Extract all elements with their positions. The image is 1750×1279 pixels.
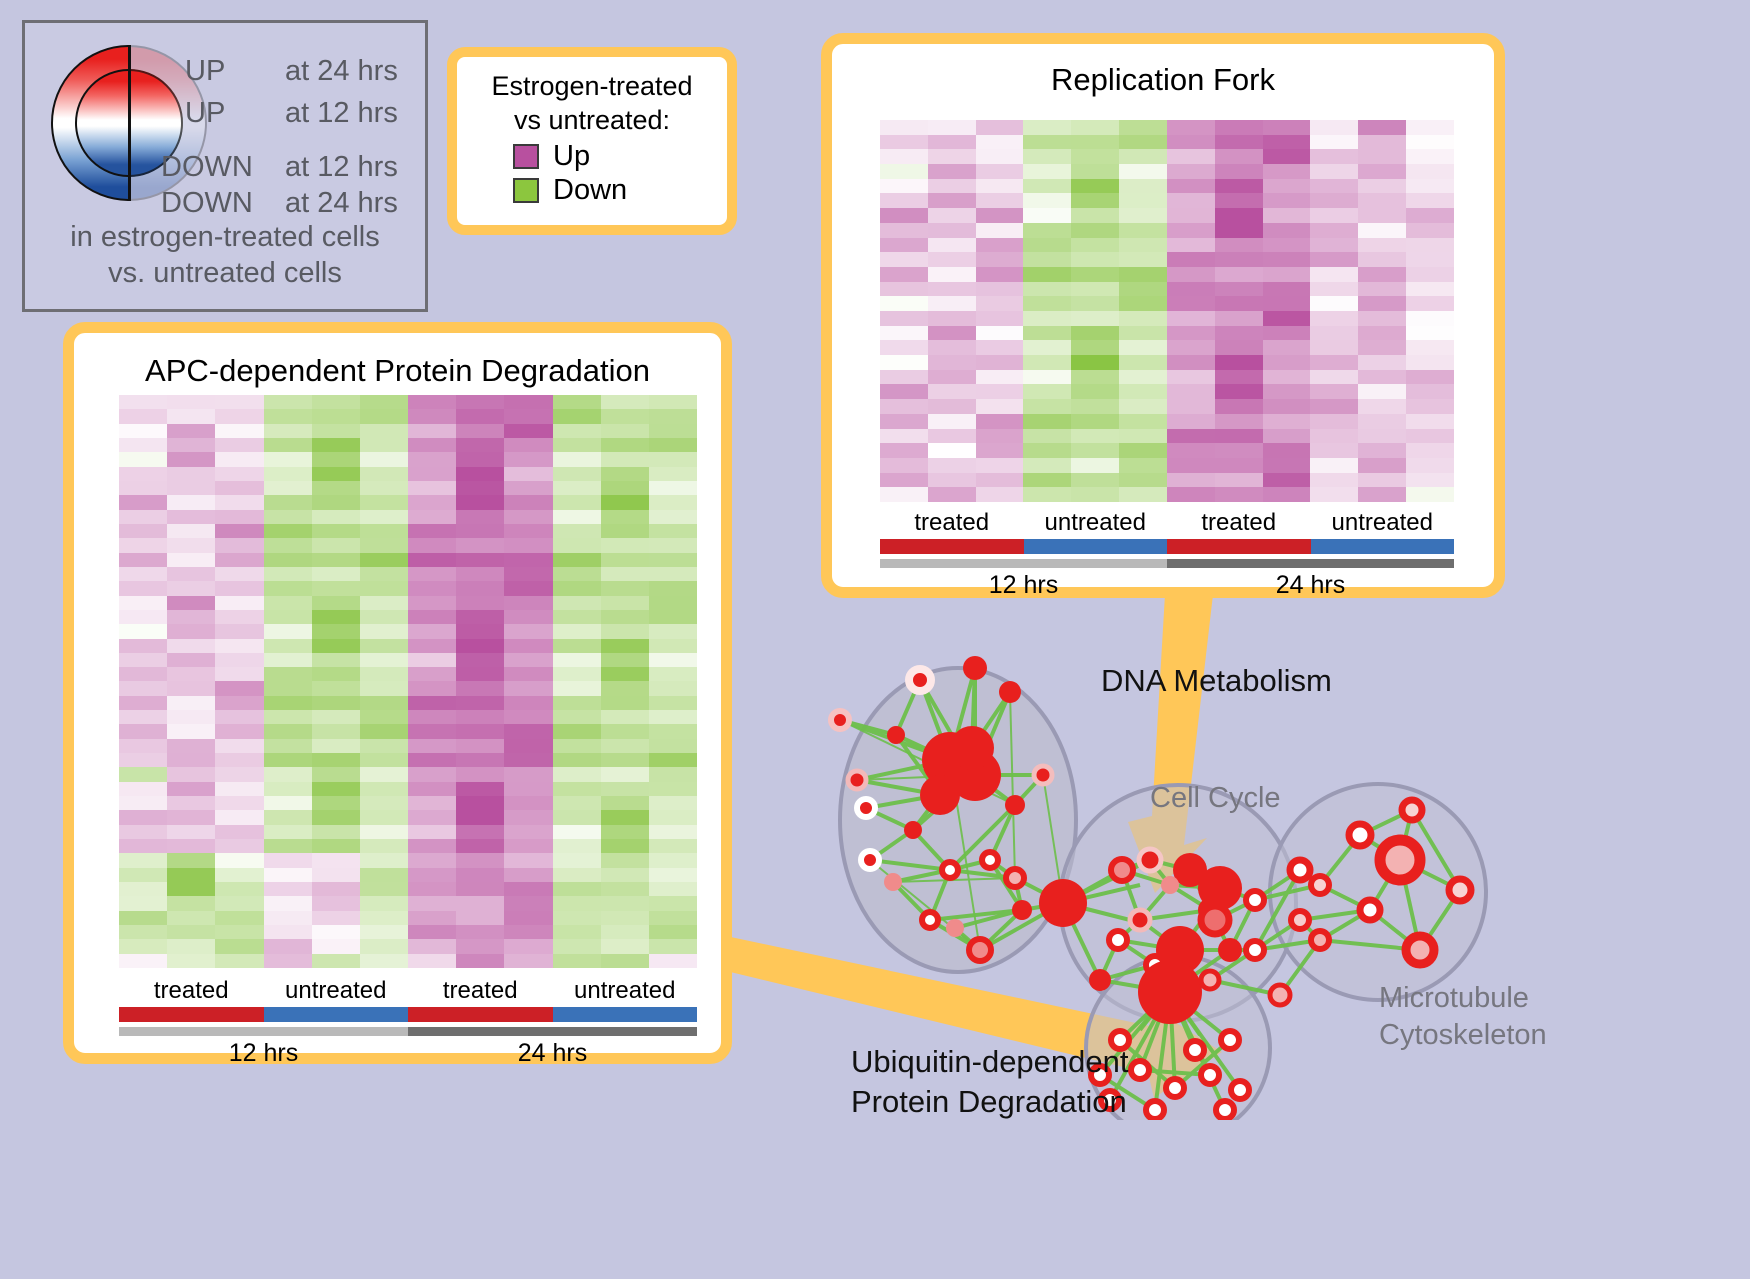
- condition-bar-untreated-12: [264, 1007, 409, 1022]
- colorwheel-divider: [128, 45, 131, 201]
- colorwheel-state-up-12: UP: [185, 97, 225, 130]
- cluster-label-microtubule: Microtubule Cytoskeleton: [1379, 980, 1547, 1054]
- condition-label: treated: [1167, 509, 1311, 537]
- condition-bar-untreated-24: [553, 1007, 698, 1022]
- condition-color-bar-replication-fork: [880, 539, 1454, 554]
- heatmap-apc: [119, 395, 697, 968]
- cluster-label-dna-metabolism: DNA Metabolism: [1101, 663, 1332, 699]
- condition-labels-apc: treated untreated treated untreated: [119, 977, 697, 1005]
- condition-label: treated: [880, 509, 1024, 537]
- condition-label: untreated: [264, 977, 409, 1005]
- condition-bar-treated-24: [408, 1007, 553, 1022]
- colorwheel-time-down-24: at 24 hrs: [285, 187, 398, 220]
- time-labels-replication-fork: 12 hrs 24 hrs: [880, 571, 1454, 600]
- time-label-24hrs: 24 hrs: [408, 1039, 697, 1068]
- cluster-label-microtubule-line1: Microtubule: [1379, 980, 1547, 1017]
- heatmap-replication-fork: [880, 120, 1454, 502]
- axis-strip-apc: treated untreated treated untreated 12 h…: [119, 977, 697, 1068]
- colorwheel-footer-line2: vs. untreated cells: [25, 255, 425, 291]
- condition-bar-treated-12: [119, 1007, 264, 1022]
- up-label: Up: [553, 141, 590, 171]
- colorwheel-footer: in estrogen-treated cells vs. untreated …: [25, 219, 425, 291]
- updown-legend-title-line2: vs untreated:: [457, 103, 727, 137]
- condition-bar-treated-12: [880, 539, 1024, 554]
- colorwheel-time-up-12: at 12 hrs: [285, 97, 398, 130]
- condition-label: untreated: [553, 977, 698, 1005]
- updown-legend-row-down: Down: [513, 175, 727, 205]
- condition-bar-untreated-12: [1024, 539, 1168, 554]
- time-bar-12hrs: [880, 559, 1167, 568]
- figure-canvas: DNA Metabolism Cell Cycle Microtubule Cy…: [0, 0, 1750, 1279]
- time-bar-12hrs: [119, 1027, 408, 1036]
- colorwheel-legend-box: UP at 24 hrs UP at 12 hrs DOWN at 12 hrs…: [22, 20, 428, 312]
- colorwheel-state-up-24: UP: [185, 55, 225, 88]
- condition-bar-untreated-24: [1311, 539, 1455, 554]
- colorwheel-state-down-12: DOWN: [161, 151, 253, 184]
- colorwheel-footer-line1: in estrogen-treated cells: [25, 219, 425, 255]
- panel-title-replication-fork: Replication Fork: [832, 44, 1494, 98]
- colorwheel-time-up-24: at 24 hrs: [285, 55, 398, 88]
- condition-color-bar-apc: [119, 1007, 697, 1022]
- axis-strip-replication-fork: treated untreated treated untreated 12 h…: [880, 509, 1454, 600]
- cluster-label-ubiquitin-line1: Ubiquitin-dependent: [851, 1042, 1129, 1082]
- cluster-label-microtubule-line2: Cytoskeleton: [1379, 1017, 1547, 1054]
- updown-legend-row-up: Up: [513, 141, 727, 171]
- cluster-label-ubiquitin: Ubiquitin-dependent Protein Degradation: [851, 1042, 1129, 1122]
- time-bar-24hrs: [408, 1027, 697, 1036]
- time-labels-apc: 12 hrs 24 hrs: [119, 1039, 697, 1068]
- panel-replication-fork: Replication Fork treated untreated treat…: [821, 33, 1505, 598]
- colorwheel-time-down-12: at 12 hrs: [285, 151, 398, 184]
- time-color-bar-replication-fork: [880, 559, 1454, 568]
- cluster-label-cell-cycle: Cell Cycle: [1150, 782, 1281, 815]
- time-label-24hrs: 24 hrs: [1167, 571, 1454, 600]
- condition-label: treated: [408, 977, 553, 1005]
- updown-legend-title: Estrogen-treated vs untreated:: [457, 69, 727, 137]
- condition-label: untreated: [1311, 509, 1455, 537]
- condition-label: treated: [119, 977, 264, 1005]
- up-color-swatch: [513, 144, 539, 169]
- condition-bar-treated-24: [1167, 539, 1311, 554]
- condition-labels-replication-fork: treated untreated treated untreated: [880, 509, 1454, 537]
- colorwheel-state-down-24: DOWN: [161, 187, 253, 220]
- time-label-12hrs: 12 hrs: [880, 571, 1167, 600]
- panel-title-apc: APC-dependent Protein Degradation: [74, 333, 721, 389]
- down-color-swatch: [513, 178, 539, 203]
- condition-label: untreated: [1024, 509, 1168, 537]
- time-color-bar-apc: [119, 1027, 697, 1036]
- updown-legend-card: Estrogen-treated vs untreated: Up Down: [447, 47, 737, 235]
- time-label-12hrs: 12 hrs: [119, 1039, 408, 1068]
- updown-legend-title-line1: Estrogen-treated: [457, 69, 727, 103]
- down-label: Down: [553, 175, 627, 205]
- panel-apc-dependent-protein-degradation: APC-dependent Protein Degradation treate…: [63, 322, 732, 1064]
- time-bar-24hrs: [1167, 559, 1454, 568]
- cluster-label-ubiquitin-line2: Protein Degradation: [851, 1082, 1129, 1122]
